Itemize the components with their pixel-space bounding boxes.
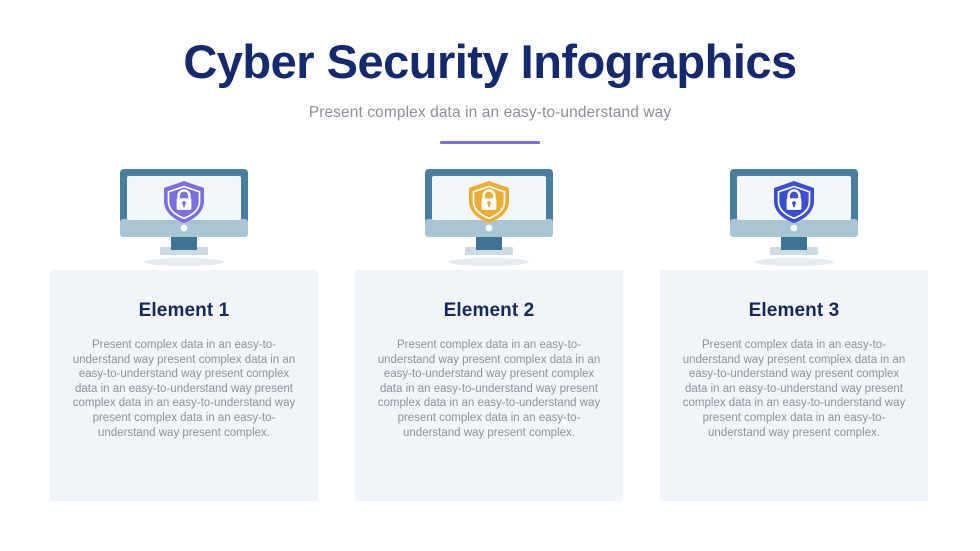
card-element-1: Element 1 Present complex data in an eas… (50, 270, 318, 501)
card-title: Element 1 (64, 300, 304, 322)
card-element-2: Element 2 Present complex data in an eas… (355, 270, 623, 501)
icon-cell-element-2 (355, 167, 623, 267)
slide-header: Cyber Security Infographics Present comp… (0, 36, 980, 144)
card-body: Present complex data in an easy-to-under… (369, 338, 609, 440)
page-title: Cyber Security Infographics (0, 36, 980, 88)
page-subtitle: Present complex data in an easy-to-under… (0, 104, 980, 122)
cards-row: Element 1 Present complex data in an eas… (50, 270, 930, 501)
desktop-monitor-icon (116, 167, 252, 267)
desktop-monitor-icon (421, 167, 557, 267)
card-body: Present complex data in an easy-to-under… (674, 338, 914, 440)
icons-row (50, 167, 930, 267)
card-title: Element 3 (674, 300, 914, 322)
card-body: Present complex data in an easy-to-under… (64, 338, 304, 440)
card-element-3: Element 3 Present complex data in an eas… (660, 270, 928, 501)
infographic-slide: Cyber Security Infographics Present comp… (0, 0, 980, 551)
header-divider (440, 141, 540, 145)
icon-cell-element-3 (660, 167, 928, 267)
desktop-monitor-icon (726, 167, 862, 267)
card-title: Element 2 (369, 300, 609, 322)
icon-cell-element-1 (50, 167, 318, 267)
